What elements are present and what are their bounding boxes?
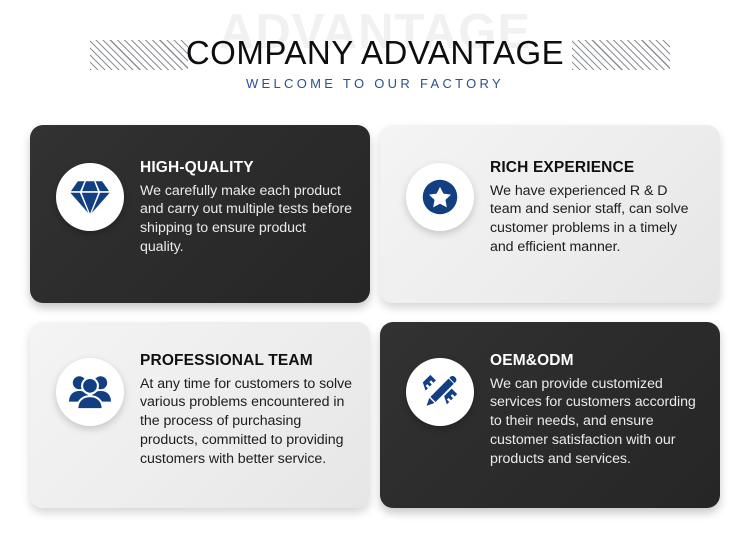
card-body: We carefully make each product and carry… bbox=[140, 182, 352, 257]
advantage-card-grid: HIGH-QUALITY We carefully make each prod… bbox=[30, 125, 720, 508]
advantage-card-high-quality[interactable]: HIGH-QUALITY We carefully make each prod… bbox=[30, 125, 370, 303]
card-body: We can provide customized services for c… bbox=[490, 375, 702, 469]
card-text-block: PROFESSIONAL TEAM At any time for custom… bbox=[140, 344, 352, 468]
people-group-icon bbox=[56, 358, 124, 426]
advantage-card-rich-experience[interactable]: RICH EXPERIENCE We have experienced R & … bbox=[380, 125, 720, 303]
card-title: HIGH-QUALITY bbox=[140, 159, 352, 178]
page-header: ADVANTAGE COMPANY ADVANTAGE WELCOME TO O… bbox=[0, 0, 750, 112]
card-body: At any time for customers to solve vario… bbox=[140, 375, 352, 469]
diamond-icon bbox=[56, 163, 124, 231]
card-text-block: OEM&ODM We can provide customized servic… bbox=[490, 344, 702, 468]
card-body: We have experienced R & D team and senio… bbox=[490, 182, 702, 257]
page-subtitle: WELCOME TO OUR FACTORY bbox=[0, 76, 750, 91]
card-text-block: RICH EXPERIENCE We have experienced R & … bbox=[490, 147, 702, 257]
card-title: RICH EXPERIENCE bbox=[490, 159, 702, 178]
advantage-card-professional-team[interactable]: PROFESSIONAL TEAM At any time for custom… bbox=[30, 322, 370, 508]
pencil-ruler-icon bbox=[406, 358, 474, 426]
card-title: PROFESSIONAL TEAM bbox=[140, 352, 352, 371]
page-title: COMPANY ADVANTAGE bbox=[0, 35, 750, 71]
card-text-block: HIGH-QUALITY We carefully make each prod… bbox=[140, 147, 352, 257]
advantage-card-oem-odm[interactable]: OEM&ODM We can provide customized servic… bbox=[380, 322, 720, 508]
company-advantage-page: ADVANTAGE COMPANY ADVANTAGE WELCOME TO O… bbox=[0, 0, 750, 545]
star-badge-icon bbox=[406, 163, 474, 231]
card-title: OEM&ODM bbox=[490, 352, 702, 371]
